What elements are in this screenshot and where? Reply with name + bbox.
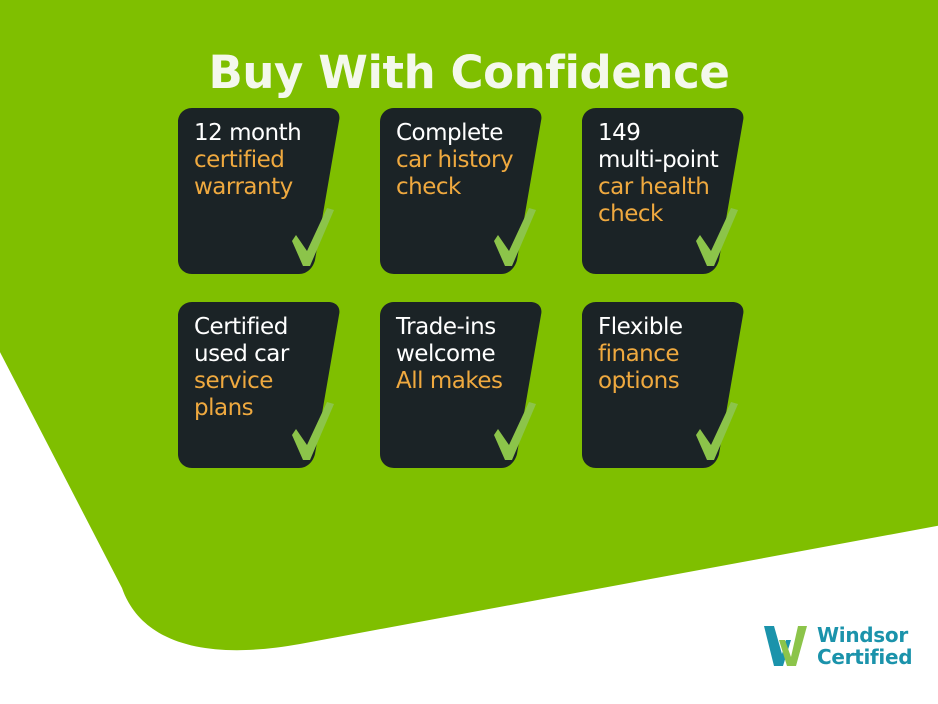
card-line-white: Complete [396,120,542,147]
feature-card-grid: 12 month certified warranty Complete car… [178,108,758,496]
feature-card-service-plans[interactable]: Certified used car service plans [178,302,354,468]
feature-card-car-history-check[interactable]: Complete car history check [380,108,556,274]
card-line-orange: check [396,174,542,201]
poster-canvas: Buy With Confidence 12 month certified w… [0,0,938,704]
windsor-w-icon [762,624,808,668]
card-line-orange: All makes [396,368,542,395]
logo-line-windsor: Windsor [817,624,912,646]
card-line-orange: car health [598,174,744,201]
feature-card-trade-ins[interactable]: Trade-ins welcome All makes [380,302,556,468]
card-text: 12 month certified warranty [194,120,340,201]
check-mark-icon [492,208,538,268]
page-title: Buy With Confidence [0,48,938,98]
card-row-bottom: Certified used car service plans Trade-i… [178,302,758,468]
card-line-orange: options [598,368,744,395]
card-line-orange: car history [396,147,542,174]
feature-card-multi-point-health-check[interactable]: 149 multi-point car health check [582,108,758,274]
card-line-orange: finance [598,341,744,368]
feature-card-flexible-finance[interactable]: Flexible finance options [582,302,758,468]
card-line-white: used car [194,341,340,368]
card-line-orange: certified [194,147,340,174]
card-line-white: welcome [396,341,542,368]
card-text: Trade-ins welcome All makes [396,314,542,395]
card-line-white: 12 month [194,120,340,147]
card-text: Flexible finance options [598,314,744,395]
check-mark-icon [290,402,336,462]
check-mark-icon [694,402,740,462]
card-line-orange: warranty [194,174,340,201]
card-line-white: Flexible [598,314,744,341]
card-line-white: Trade-ins [396,314,542,341]
feature-card-certified-warranty[interactable]: 12 month certified warranty [178,108,354,274]
card-line-orange: service [194,368,340,395]
card-text: Complete car history check [396,120,542,201]
check-mark-icon [492,402,538,462]
logo-wordmark: Windsor Certified [817,624,912,669]
card-line-white: Certified [194,314,340,341]
check-mark-icon [694,208,740,268]
card-row-top: 12 month certified warranty Complete car… [178,108,758,274]
card-line-white: 149 [598,120,744,147]
logo-line-certified: Certified [817,646,912,668]
windsor-certified-logo[interactable]: Windsor Certified [762,624,912,669]
card-line-white: multi-point [598,147,744,174]
check-mark-icon [290,208,336,268]
